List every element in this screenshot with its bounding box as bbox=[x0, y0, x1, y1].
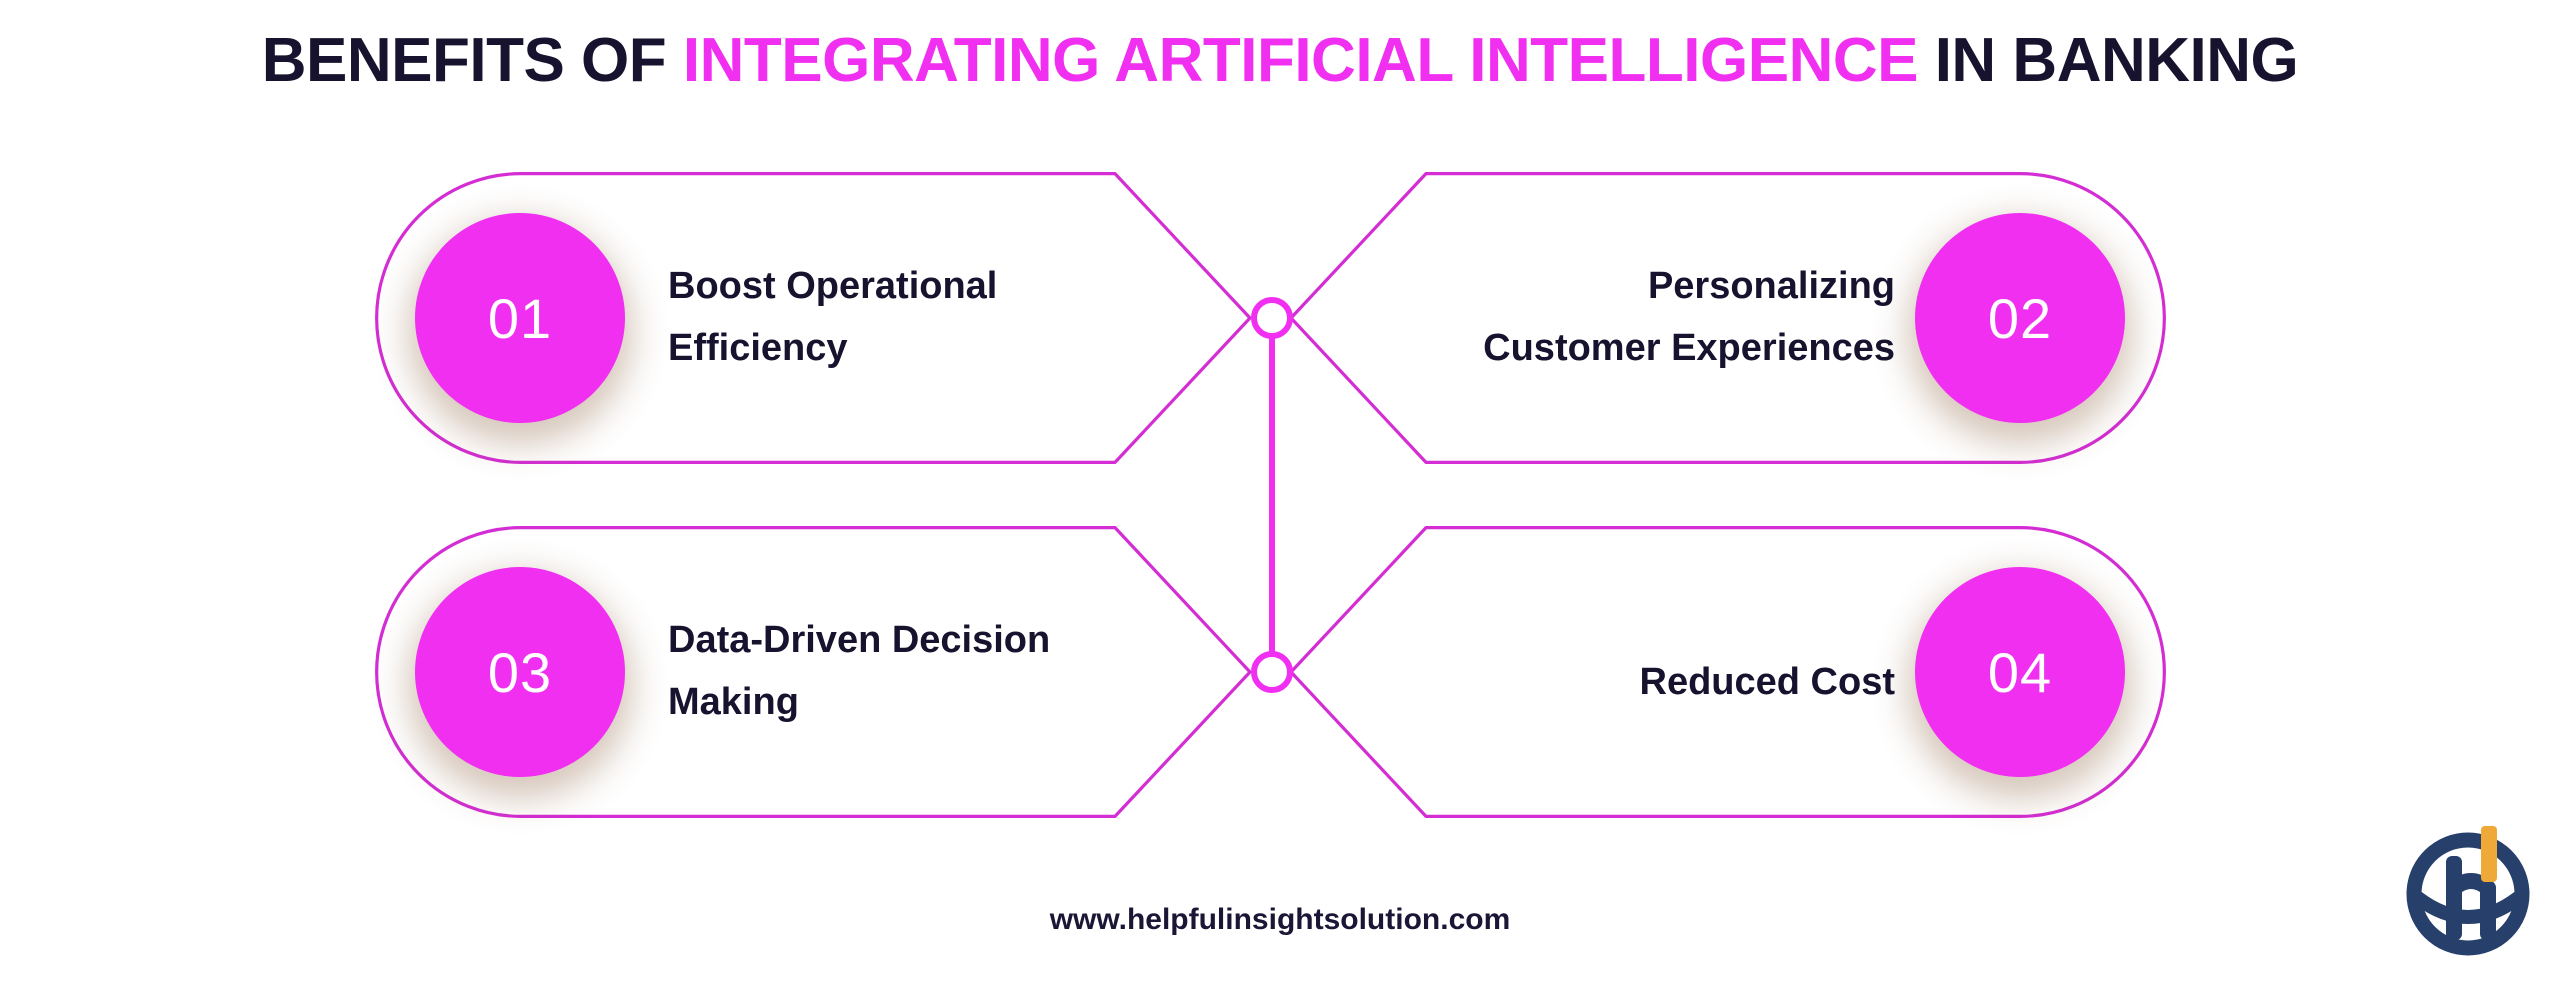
connector-stem-line bbox=[1269, 334, 1275, 658]
benefit-label-02-line1: Personalizing bbox=[1400, 256, 1895, 318]
benefit-label-04-line1: Reduced Cost bbox=[1400, 652, 1895, 714]
benefit-label-01-line2: Efficiency bbox=[668, 318, 1138, 380]
footer-website-url[interactable]: www.helpfulinsightsolution.com bbox=[0, 903, 2560, 937]
benefit-label-04: Reduced Cost bbox=[1400, 652, 1895, 714]
benefit-label-03: Data-Driven Decision Making bbox=[668, 610, 1168, 733]
benefit-number-badge-03: 03 bbox=[415, 567, 625, 777]
benefit-number-01: 01 bbox=[488, 286, 552, 351]
benefit-number-badge-04: 04 bbox=[1915, 567, 2125, 777]
connector-node-top-icon bbox=[1251, 297, 1293, 339]
benefit-label-01-line1: Boost Operational bbox=[668, 256, 1138, 318]
center-connector bbox=[1242, 288, 1302, 704]
benefit-label-02: Personalizing Customer Experiences bbox=[1400, 256, 1895, 379]
benefit-label-02-line2: Customer Experiences bbox=[1400, 318, 1895, 380]
benefit-number-02: 02 bbox=[1988, 286, 2052, 351]
title-segment-suffix: IN BANKING bbox=[1918, 26, 2298, 95]
benefit-number-03: 03 bbox=[488, 640, 552, 705]
infographic-canvas: BENEFITS OF INTEGRATING ARTIFICIAL INTEL… bbox=[0, 0, 2560, 982]
benefit-label-01: Boost Operational Efficiency bbox=[668, 256, 1138, 379]
brand-logo-icon bbox=[2392, 812, 2544, 964]
benefit-number-badge-01: 01 bbox=[415, 213, 625, 423]
benefit-number-badge-02: 02 bbox=[1915, 213, 2125, 423]
title-segment-highlight: INTEGRATING ARTIFICIAL INTELLIGENCE bbox=[683, 26, 1918, 95]
title-segment-prefix: BENEFITS OF bbox=[262, 26, 683, 95]
page-title: BENEFITS OF INTEGRATING ARTIFICIAL INTEL… bbox=[0, 28, 2560, 93]
connector-node-bottom-icon bbox=[1251, 651, 1293, 693]
benefit-label-03-line1: Data-Driven Decision bbox=[668, 610, 1168, 672]
benefit-label-03-line2: Making bbox=[668, 672, 1168, 734]
benefit-number-04: 04 bbox=[1988, 640, 2052, 705]
